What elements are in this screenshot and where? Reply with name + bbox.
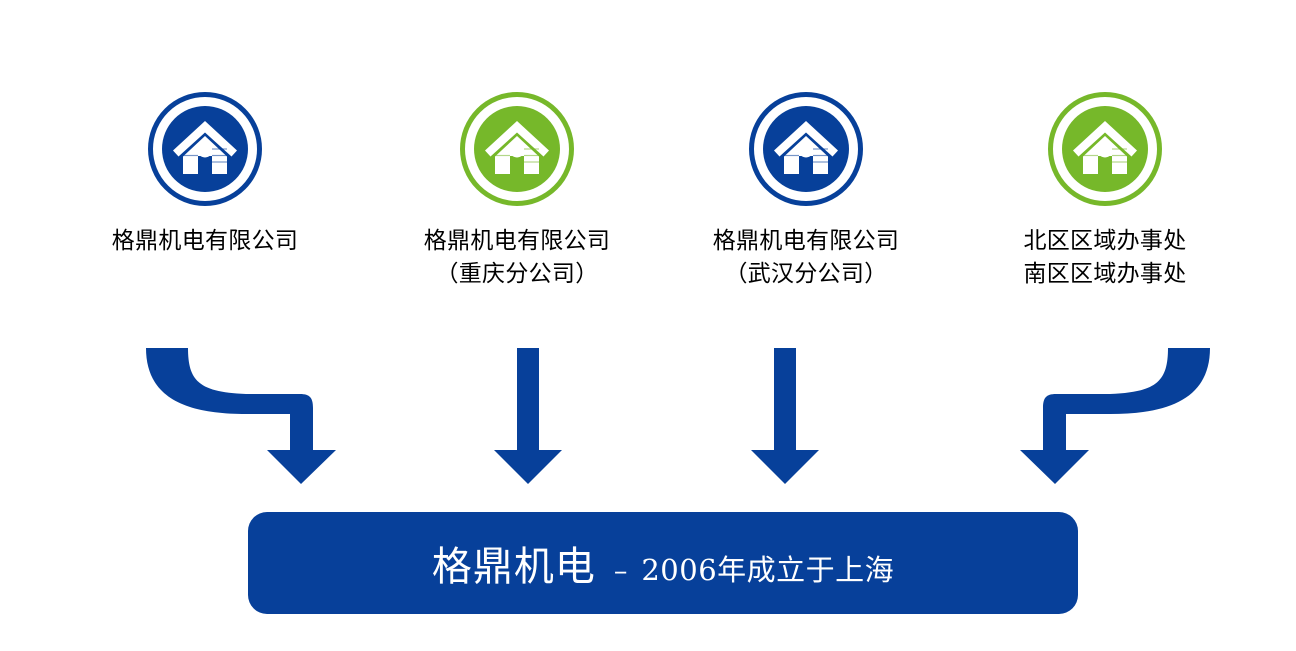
- house-circle-icon: [148, 92, 262, 206]
- banner-separator: –: [614, 556, 628, 587]
- straight-arrow-2: [494, 348, 562, 484]
- org-node-3-caption: 格鼎机电有限公司 （武汉分公司）: [713, 225, 899, 290]
- curved-arrow-left: [146, 348, 336, 484]
- company-founding-note: 2006年成立于上海: [641, 547, 894, 589]
- org-node-1[interactable]: 格鼎机电有限公司: [55, 92, 355, 258]
- company-banner-text: 格鼎机电 – 2006年成立于上海: [432, 534, 894, 592]
- house-circle-icon: [460, 92, 574, 206]
- company-name: 格鼎机电: [432, 534, 596, 592]
- straight-arrow-3: [751, 348, 819, 484]
- org-node-2-caption: 格鼎机电有限公司 （重庆分公司）: [424, 225, 610, 290]
- org-node-4[interactable]: 北区区域办事处 南区区域办事处: [955, 92, 1255, 290]
- curved-arrow-right: [1020, 348, 1210, 484]
- org-node-4-caption: 北区区域办事处 南区区域办事处: [1023, 225, 1186, 290]
- company-banner[interactable]: 格鼎机电 – 2006年成立于上海: [248, 512, 1078, 614]
- org-node-1-caption: 格鼎机电有限公司: [112, 225, 298, 258]
- org-node-3[interactable]: 格鼎机电有限公司 （武汉分公司）: [656, 92, 956, 290]
- diagram-canvas: 格鼎机电有限公司 格鼎机电有限公司 （重庆分公司）: [0, 0, 1296, 651]
- house-circle-icon: [749, 92, 863, 206]
- house-circle-icon: [1048, 92, 1162, 206]
- org-node-2[interactable]: 格鼎机电有限公司 （重庆分公司）: [367, 92, 667, 290]
